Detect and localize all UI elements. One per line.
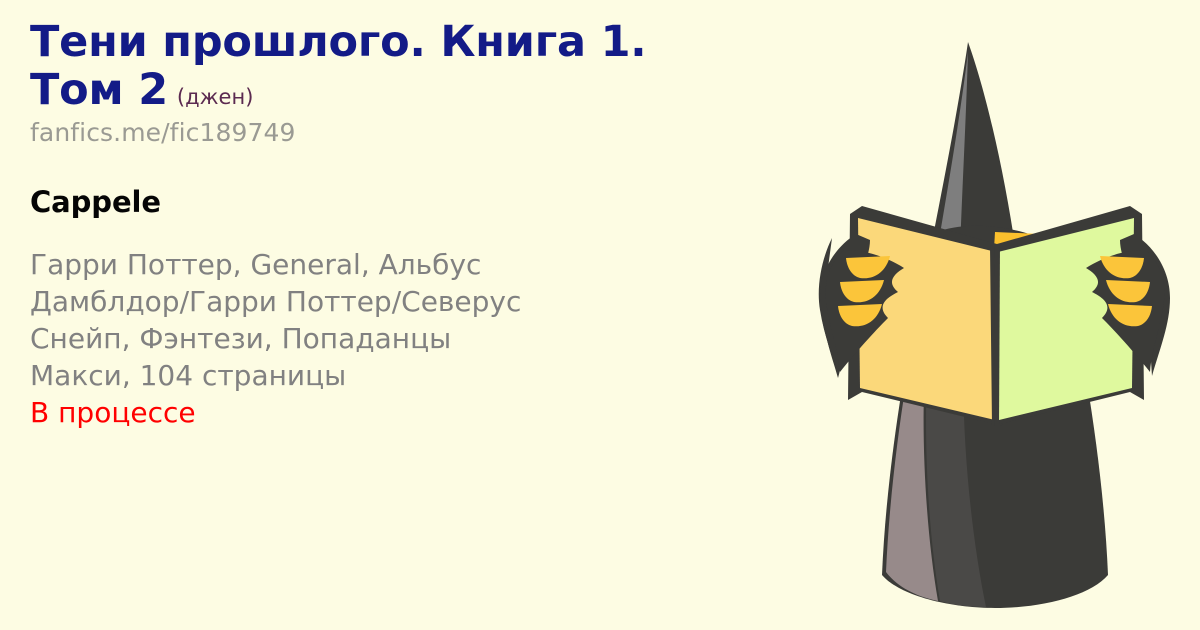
genre-label: (джен)	[177, 85, 253, 109]
wizard-illustration-svg	[790, 0, 1200, 630]
tag-line: Гарри Поттер, General, Альбус	[30, 247, 800, 284]
story-info: Тени прошлого. Книга 1. Том 2(джен) fanf…	[30, 18, 800, 432]
story-url[interactable]: fanfics.me/fic189749	[30, 118, 800, 147]
author-name[interactable]: Cappele	[30, 185, 800, 219]
fanfic-preview-card: Тени прошлого. Книга 1. Том 2(джен) fanf…	[0, 0, 1200, 630]
page-title: Тени прошлого. Книга 1. Том 2(джен)	[30, 18, 800, 114]
status-badge: В процессе	[30, 395, 800, 432]
tag-line: Макси, 104 страницы	[30, 358, 800, 395]
book-spine	[994, 244, 1000, 428]
tag-line: Снейп, Фэнтези, Попаданцы	[30, 321, 800, 358]
title-line-2: Том 2	[30, 65, 168, 115]
title-line-2-row: Том 2(джен)	[30, 66, 800, 114]
story-tags: Гарри Поттер, General, Альбус Дамблдор/Г…	[30, 247, 800, 432]
tag-line: Дамблдор/Гарри Поттер/Северус	[30, 284, 800, 321]
title-line-1: Тени прошлого. Книга 1.	[30, 18, 800, 66]
wizard-reading-book-illustration	[790, 0, 1200, 630]
